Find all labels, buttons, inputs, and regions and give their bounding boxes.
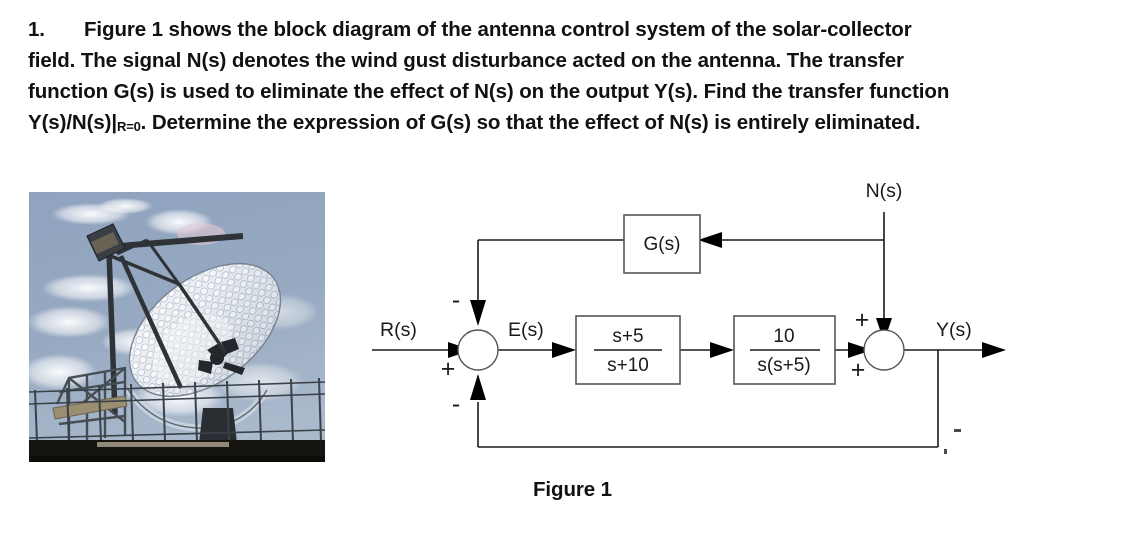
block-plant: 10 s(s+5) xyxy=(734,316,835,384)
block-lead-network: s+5 s+10 xyxy=(576,316,680,384)
wire-lead-to-plant xyxy=(680,342,734,358)
summing-junction-disturbance: + + xyxy=(851,306,904,384)
scan-speck-lower xyxy=(944,449,947,454)
block-compensator-label: G(s) xyxy=(644,234,681,255)
signal-label-error: E(s) xyxy=(508,319,544,341)
block-plant-denominator: s(s+5) xyxy=(757,355,810,376)
block-compensator: G(s) xyxy=(624,215,700,273)
signal-label-reference: R(s) xyxy=(380,319,417,341)
question-line-2: field. The signal N(s) denotes the wind … xyxy=(28,45,1108,76)
scan-speck-upper xyxy=(954,429,961,432)
signal-label-output: Y(s) xyxy=(936,319,972,341)
summer2-sign-left: + xyxy=(851,356,866,384)
summer1-sign-bottom: - xyxy=(452,390,460,418)
wire-reference-input xyxy=(372,342,472,358)
figure-caption: Figure 1 xyxy=(533,478,612,502)
wire-output-feedback xyxy=(470,350,938,447)
wire-disturbance-to-compensator xyxy=(698,232,884,248)
question-line-4: Y(s)/N(s)|R=0. Determine the expression … xyxy=(28,107,1108,140)
question-number: 1. xyxy=(28,14,84,45)
question-line-4-tail: . Determine the expression of G(s) so th… xyxy=(141,111,921,134)
condition-subscript: R=0 xyxy=(117,119,141,134)
wire-disturbance xyxy=(876,212,892,342)
solar-collector-photo xyxy=(29,192,325,462)
block-lead-denominator: s+10 xyxy=(607,355,649,376)
summer2-sign-top: + xyxy=(855,306,870,334)
summer1-sign-left: + xyxy=(441,355,456,383)
wire-error-to-lead xyxy=(498,342,576,358)
question-line-3: function G(s) is used to eliminate the e… xyxy=(28,76,1108,107)
block-lead-numerator: s+5 xyxy=(612,326,643,347)
signal-label-disturbance: N(s) xyxy=(866,180,903,202)
question-line-1-text: Figure 1 shows the block diagram of the … xyxy=(84,18,912,41)
wire-output xyxy=(904,342,1006,358)
question-paragraph: 1.Figure 1 shows the block diagram of th… xyxy=(28,14,1108,140)
question-line-4-head: Y(s)/N(s)| xyxy=(28,111,117,134)
question-line-1: 1.Figure 1 shows the block diagram of th… xyxy=(28,14,1108,45)
wire-compensator-to-summer xyxy=(470,240,624,326)
summer1-sign-top: - xyxy=(452,286,460,314)
block-plant-numerator: 10 xyxy=(773,326,794,347)
